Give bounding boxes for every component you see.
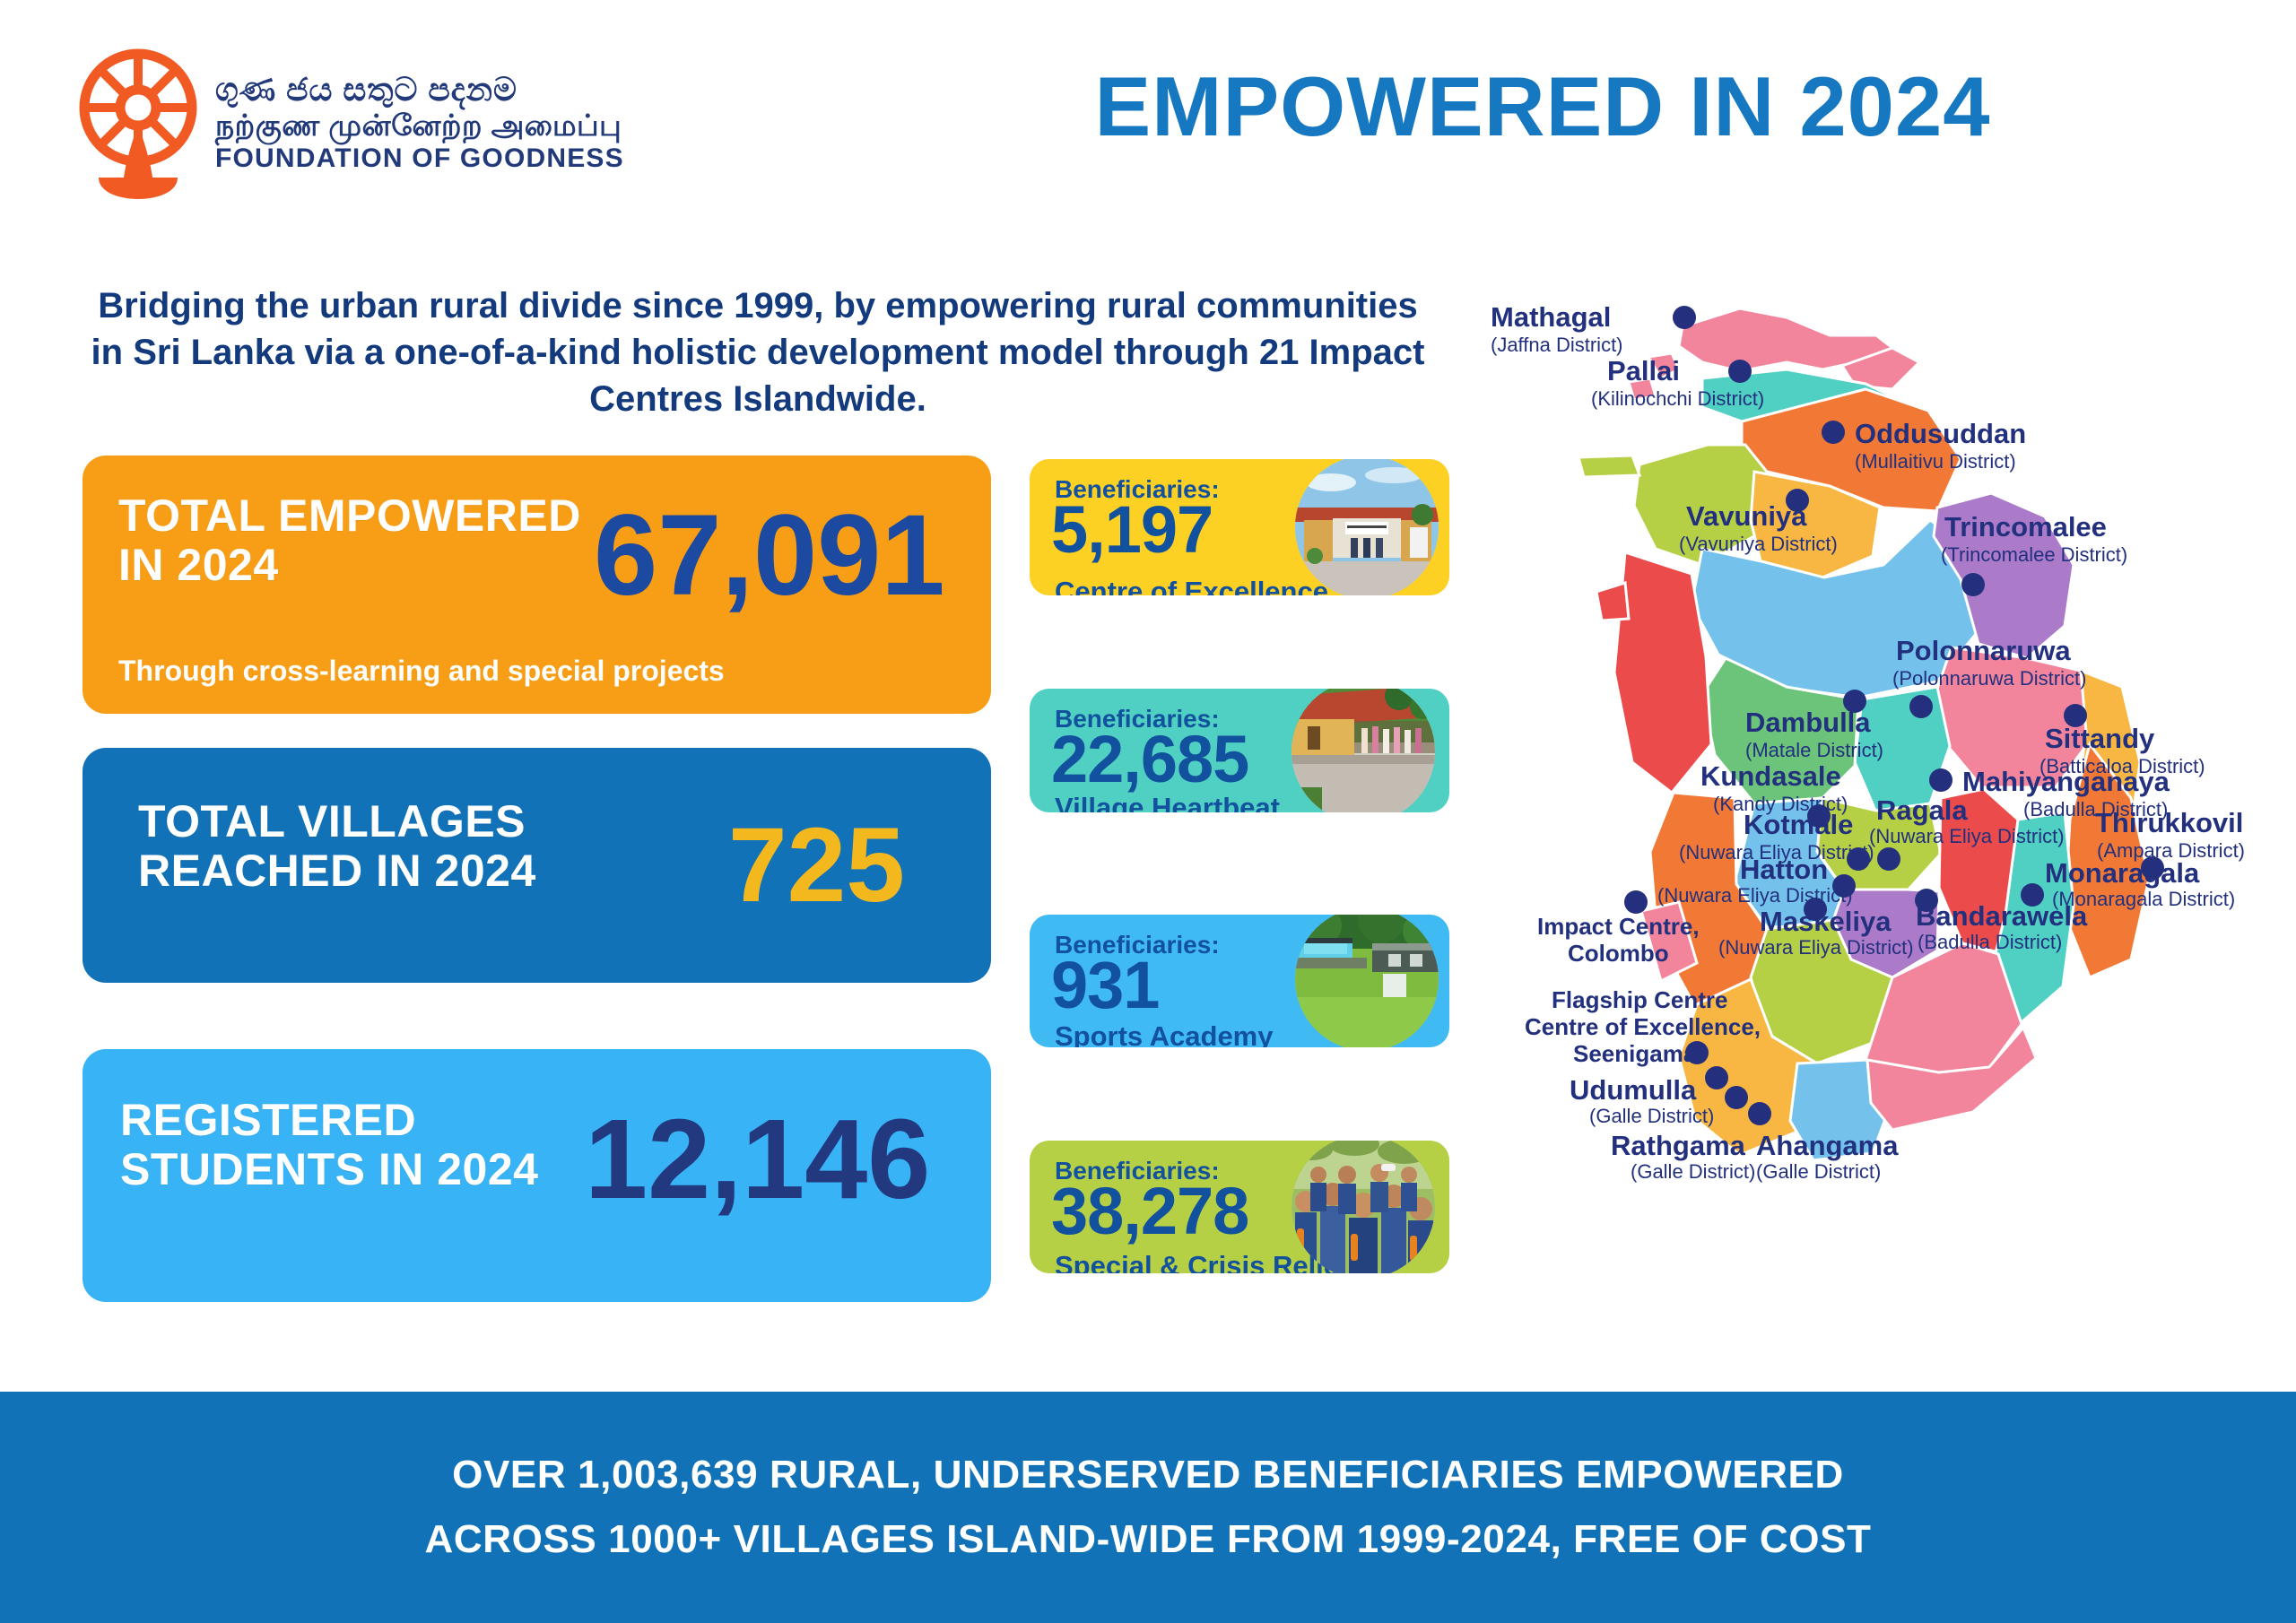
map-marker-vavuniya: [1786, 489, 1809, 512]
map-label-flagship-centre-line2: Centre of Excellence,: [1525, 1013, 1761, 1040]
stat-card-registered-students: REGISTERED STUDENTS IN 2024 12,146: [83, 1049, 991, 1302]
organisation-logo: ගුණ ජය සතුට පදනම நற்குண முன்னேற்ற அமைப்ப…: [79, 47, 624, 199]
map-label-ahangama: Ahangama: [1756, 1130, 1899, 1161]
beneficiary-card-centre-of-excellence: Beneficiaries: 5,197 Centre of Excellenc…: [1030, 459, 1449, 595]
map-marker-maskeliya: [1804, 898, 1827, 921]
map-label-ahangama-district: (Galle District): [1756, 1160, 1881, 1183]
map-label-polonnaruwa: Polonnaruwa: [1896, 635, 2071, 666]
footer-banner: OVER 1,003,639 RURAL, UNDERSERVED BENEFI…: [0, 1392, 2296, 1623]
logo-english-text: FOUNDATION OF GOODNESS: [215, 143, 624, 174]
map-label-bandarawela-district: (Badulla District): [1918, 931, 2062, 953]
logo-tamil-text: நற்குண முன்னேற்ற அமைப்பு: [215, 109, 624, 143]
header: ගුණ ජය සතුට පදනම நற்குண முன்னேற்ற அமைப்ப…: [0, 0, 2296, 260]
stat-card-value: 67,091: [594, 499, 945, 613]
map-label-monaragala: Monaragala: [2045, 857, 2200, 889]
map-label-sittandy: Sittandy: [2045, 723, 2155, 754]
beneficiaries-programme-name: Centre of Excellence: [1055, 576, 1328, 595]
map-label-rathgama: Rathgama: [1611, 1130, 1746, 1161]
beneficiaries-programme-name: Sports Academy: [1055, 1020, 1274, 1047]
map-label-udumulla: Udumulla: [1570, 1074, 1697, 1106]
map-label-rathgama-district: (Galle District): [1631, 1160, 1755, 1183]
map-marker-dambulla: [1843, 690, 1866, 713]
footer-line-1: OVER 1,003,639 RURAL, UNDERSERVED BENEFI…: [452, 1453, 1844, 1497]
map-label-trincomalee: Trincomalee: [1944, 511, 2107, 542]
page-title: EMPOWERED IN 2024: [834, 65, 2251, 149]
map-label-flagship-centre-line1: Flagship Centre: [1552, 986, 1727, 1013]
map-marker-rathgama: [1725, 1086, 1748, 1109]
map-label-vavuniya-district: (Vavuniya District): [1679, 533, 1838, 555]
map-marker-polonnaruwa: [1909, 695, 1933, 718]
map-marker-impact-centre-colombo: [1624, 890, 1648, 914]
map-label-mathagal-district: (Jaffna District): [1491, 334, 1623, 356]
map-marker-mathagal: [1673, 306, 1696, 329]
map-label-trincomalee-district: (Trincomalee District): [1941, 543, 2127, 566]
map-label-oddusuddan: Oddusuddan: [1855, 418, 2026, 449]
map-label-flagship-centre-line3: Seenigama: [1573, 1040, 1697, 1067]
map-label-ragala: Ragala: [1876, 794, 1968, 826]
map-label-thirukkovil: Thirukkovil: [2095, 807, 2243, 838]
stat-card-sublabel: Through cross-learning and special proje…: [118, 655, 725, 688]
village-heartbeat-centre-photo: [1291, 689, 1435, 812]
map-label-bandarawela: Bandarawela: [1916, 900, 2088, 932]
stat-card-total-empowered: TOTAL EMPOWERED IN 2024 67,091 Through c…: [83, 456, 991, 714]
beneficiaries-value: 5,197: [1051, 497, 1213, 563]
map-marker-bandarawela: [1915, 889, 1938, 912]
map-svg: Mathagal (Jaffna District) Pallai (Kilin…: [1471, 296, 2278, 1381]
stat-card-label: TOTAL EMPOWERED IN 2024: [118, 491, 585, 590]
beneficiaries-value: 38,278: [1051, 1178, 1248, 1245]
map-marker-seenigama: [1685, 1041, 1709, 1064]
map-marker-ahangama: [1748, 1102, 1771, 1125]
stat-card-value: 12,146: [585, 1103, 930, 1216]
map-marker-sittandy: [2064, 704, 2087, 727]
map-marker-pallai: [1728, 360, 1752, 383]
map-marker-udumulla: [1705, 1066, 1728, 1089]
stat-card-value: 725: [728, 812, 905, 918]
dharma-wheel-logo-icon: [79, 47, 197, 199]
map-label-impact-centre-colombo-line2: Colombo: [1568, 940, 1669, 967]
map-marker-trincomalee: [1961, 573, 1985, 596]
intro-paragraph: Bridging the urban rural divide since 19…: [85, 282, 1431, 422]
map-label-hatton: Hatton: [1740, 854, 1828, 885]
map-label-kundasale: Kundasale: [1700, 760, 1841, 792]
sri-lanka-impact-centres-map: Mathagal (Jaffna District) Pallai (Kilin…: [1471, 296, 2278, 1381]
map-label-impact-centre-colombo-line1: Impact Centre,: [1537, 913, 1700, 940]
beneficiary-card-special-crisis-relief: Beneficiaries: 38,278 Special & Crisis R…: [1030, 1141, 1449, 1273]
map-label-ragala-district: (Nuwara Eliya District): [1869, 825, 2065, 847]
map-label-mahiyanganaya: Mahiyanganaya: [1962, 766, 2170, 797]
map-marker-kotmale: [1847, 847, 1870, 871]
map-label-udumulla-district: (Galle District): [1589, 1105, 1714, 1127]
school-children-crowd-photo: [1291, 1141, 1435, 1273]
sports-academy-aerial-photo: [1295, 915, 1439, 1047]
map-label-mathagal: Mathagal: [1491, 301, 1611, 333]
map-label-maskeliya-district: (Nuwara Eliya District): [1718, 936, 1914, 959]
map-label-dambulla-district: (Matale District): [1745, 739, 1883, 761]
stat-card-label: REGISTERED STUDENTS IN 2024: [120, 1096, 587, 1194]
map-label-pallai: Pallai: [1607, 355, 1680, 386]
logo-text-block: ගුණ ජය සතුට පදනම நற்குண முன்னேற்ற அமைப்ப…: [215, 72, 624, 173]
beneficiaries-value: 931: [1051, 952, 1159, 1019]
stat-card-total-villages: TOTAL VILLAGES REACHED IN 2024 725: [83, 748, 991, 983]
stat-card-label: TOTAL VILLAGES REACHED IN 2024: [138, 797, 658, 896]
map-label-pallai-district: (Kilinochchi District): [1591, 387, 1764, 410]
map-marker-ragala: [1877, 847, 1900, 871]
map-label-oddusuddan-district: (Mullaitivu District): [1855, 450, 2016, 473]
footer-line-2: ACROSS 1000+ VILLAGES ISLAND-WIDE FROM 1…: [425, 1517, 1872, 1562]
centre-of-excellence-entrance-photo: [1295, 459, 1439, 595]
infographic-page: ගුණ ජය සතුට පදනම நற்குண முன்னேற்ற அமைப்ப…: [0, 0, 2296, 1623]
map-marker-oddusuddan: [1822, 421, 1845, 444]
beneficiary-card-sports-academy: Beneficiaries: 931 Sports Academy: [1030, 915, 1449, 1047]
map-marker-hatton: [1832, 874, 1856, 898]
beneficiary-card-village-heartbeat: Beneficiaries: 22,685 Village Heartbeat …: [1030, 689, 1449, 812]
beneficiaries-value: 22,685: [1051, 726, 1248, 793]
map-label-kotmale: Kotmale: [1744, 809, 1853, 840]
logo-sinhala-text: ගුණ ජය සතුට පදනම: [215, 72, 624, 108]
map-marker-mahiyanganaya: [1929, 768, 1952, 792]
map-label-polonnaruwa-district: (Polonnaruwa District): [1892, 667, 2086, 690]
